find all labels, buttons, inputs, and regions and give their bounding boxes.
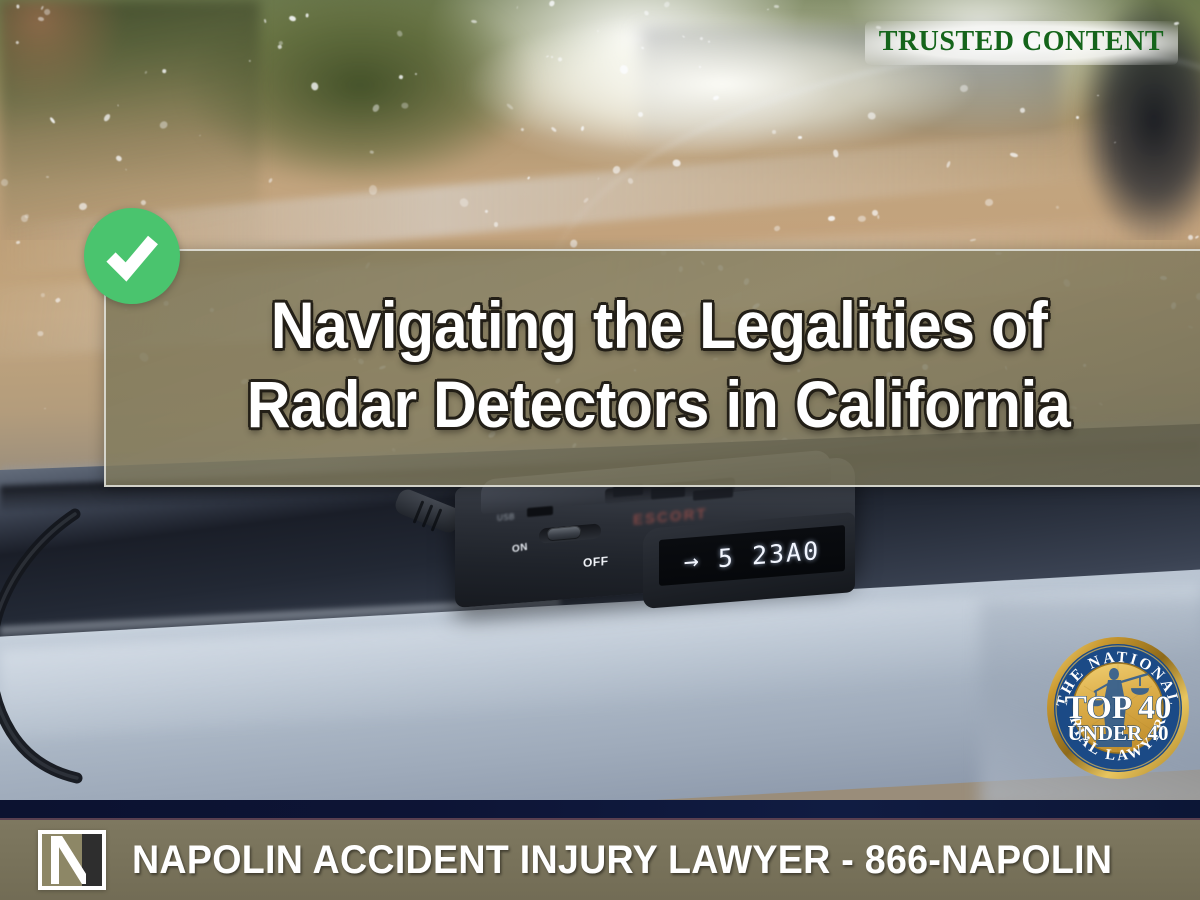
radar-detector-device: ESCORT USB ON OFF → 5 23A0	[455, 480, 855, 630]
dust-speck	[38, 331, 44, 337]
dust-speck	[306, 13, 309, 17]
trusted-content-badge: TRUSTED CONTENT	[865, 21, 1178, 65]
detector-usb-label: USB	[497, 512, 515, 523]
napolin-logo-letter-n	[42, 834, 102, 886]
check-icon	[101, 225, 163, 287]
title-banner: Navigating the Legalities of Radar Detec…	[104, 249, 1200, 487]
page-title-line-2: Radar Detectors in California	[247, 371, 1070, 438]
detector-switch-label-off: OFF	[583, 554, 609, 570]
dust-speck	[117, 104, 118, 106]
badge-trademark: ™	[1151, 741, 1157, 747]
dust-speck	[520, 127, 524, 131]
dust-speck	[798, 136, 802, 139]
page-title-line-1: Navigating the Legalities of	[271, 292, 1048, 359]
dust-speck	[772, 130, 776, 134]
dust-speck	[858, 215, 866, 221]
trusted-content-label: TRUSTED CONTENT	[879, 26, 1164, 57]
verified-check-badge	[84, 208, 180, 304]
dust-speck	[551, 56, 554, 58]
dust-speck	[401, 102, 409, 108]
award-badge-graphic: THE NATIONAL TRIAL LAWYERS TOP 40 UNDER …	[1044, 634, 1192, 782]
title-banner-inner: Navigating the Legalities of Radar Detec…	[106, 251, 1200, 485]
dust-speck	[1097, 95, 1099, 96]
dust-speck	[698, 66, 700, 68]
dust-speck	[125, 168, 127, 170]
infographic-canvas: ESCORT USB ON OFF → 5 23A0 TRUSTED CONTE…	[0, 0, 1200, 900]
footer-firm-text: NAPOLIN ACCIDENT INJURY LAWYER - 866-NAP…	[132, 824, 1112, 896]
dust-speck	[162, 68, 166, 73]
dust-speck	[828, 215, 835, 220]
footer-navy-strip	[0, 800, 1200, 818]
dust-speck	[369, 150, 374, 154]
napolin-logo[interactable]	[38, 830, 106, 890]
dust-speck	[774, 5, 779, 8]
dust-speck	[494, 222, 498, 227]
napolin-logo-mark	[42, 834, 102, 886]
top-40-under-40-award-badge: THE NATIONAL TRIAL LAWYERS TOP 40 UNDER …	[1044, 634, 1192, 782]
dust-speck	[369, 184, 377, 194]
dust-speck	[16, 4, 19, 8]
detector-display-text: → 5 23A0	[684, 536, 820, 576]
